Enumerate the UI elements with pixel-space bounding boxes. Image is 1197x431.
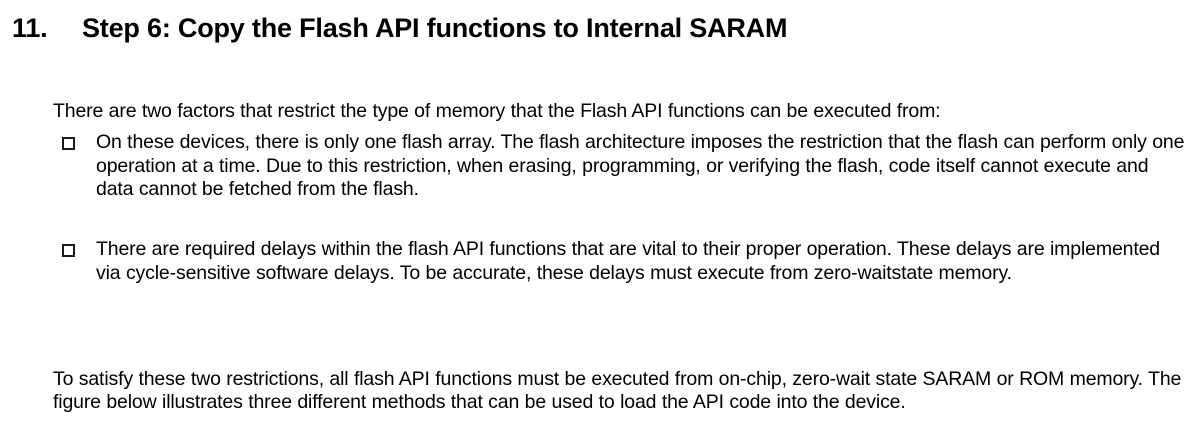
list-item-label: There are required delays within the fla… xyxy=(96,238,1188,285)
section-heading: 11. Step 6: Copy the Flash API functions… xyxy=(0,12,1197,44)
page-title: Step 6: Copy the Flash API functions to … xyxy=(82,12,787,44)
closing-paragraph: To satisfy these two restrictions, all f… xyxy=(53,368,1189,415)
document-page: 11. Step 6: Copy the Flash API functions… xyxy=(0,0,1197,431)
list-item: On these devices, there is only one flas… xyxy=(62,131,1188,202)
list-item: There are required delays within the fla… xyxy=(62,238,1188,285)
hollow-square-bullet-icon xyxy=(62,238,96,257)
list-item-label: On these devices, there is only one flas… xyxy=(96,131,1188,202)
section-number: 11. xyxy=(0,12,82,44)
hollow-square-bullet-icon xyxy=(62,131,96,150)
intro-paragraph: There are two factors that restrict the … xyxy=(53,100,1188,124)
